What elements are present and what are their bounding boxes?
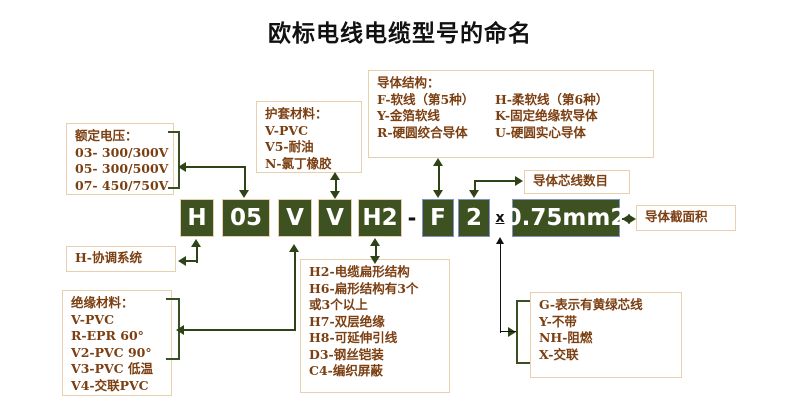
note-cell-right: K-固定绝缘软导体 (495, 108, 598, 125)
arrow-insulation-to-chip (289, 244, 299, 252)
note-line: H-协调系统 (75, 250, 169, 267)
connector-cores-horizontal (474, 180, 516, 182)
note-line: 导体芯线数目 (533, 173, 623, 190)
note-core-marking: G-表示有黄绿芯线 Y-不带 NH-阻燃 X-交联 (530, 292, 682, 378)
note-line: 03- 300/300V (75, 145, 167, 162)
connector-voltage-horizontal (186, 166, 246, 168)
note-row: R-硬圆绞合导体 U-硬圆实心导体 (377, 125, 647, 142)
code-chip-label: V (286, 205, 304, 231)
note-row: Y-金箔软线 K-固定绝缘软导体 (377, 108, 647, 125)
note-row: F-软线（第5种） H-柔软线（第6种） (377, 92, 647, 109)
code-chip-sheath[interactable]: V (318, 199, 352, 237)
note-line: V2-PVC 90° (71, 345, 165, 362)
note-line: G-表示有黄绿芯线 (539, 297, 675, 314)
arrow-core-marking-to-note (508, 327, 516, 337)
note-line: 导体截面积 (645, 209, 729, 226)
note-line: V4-交联PVC (71, 378, 165, 395)
connector-core-marking-vertical (500, 243, 501, 333)
note-line: N-氯丁橡胶 (265, 156, 355, 173)
note-sheath-material: 护套材料： V-PVC V5-耐油 N-氯丁橡胶 (256, 101, 362, 173)
note-line: H8-可延伸引线 (309, 330, 443, 347)
code-chip-cross-section[interactable]: 0.75mm2 (512, 199, 620, 237)
bracket-core-marking (516, 300, 530, 364)
note-structure-codes: H2-电缆扁形结构 H6-扁形结构有3个 或3个以上 H7-双层绝缘 H8-可延… (300, 259, 450, 393)
note-cell-left: R-硬圆绞合导体 (377, 125, 495, 142)
code-chip-label: 2 (466, 205, 482, 231)
code-chip-voltage[interactable]: 05 (222, 199, 270, 237)
code-chip-conductor[interactable]: F (422, 199, 454, 237)
note-rated-voltage: 额定电压： 03- 300/300V 05- 300/500V 07- 450/… (66, 123, 174, 195)
code-chip-label: F (430, 205, 446, 231)
note-line: V-PVC (71, 312, 165, 329)
arrow-cores-to-note (515, 176, 523, 186)
code-chip-cores[interactable]: 2 (458, 199, 490, 237)
note-cell-left: Y-金箔软线 (377, 108, 495, 125)
connector-insulation-horizontal (180, 329, 194, 331)
note-insulation-material: 绝缘材料： V-PVC R-EPR 60° V2-PVC 90° V3-PVC … (62, 290, 172, 396)
code-separator-label: - (408, 206, 417, 230)
arrow-conductor-down (433, 190, 443, 198)
arrow-cross-section-to-chip (622, 214, 630, 224)
arrow-core-marking-to-symbol (496, 237, 504, 244)
code-chip-label: H2 (362, 205, 397, 231)
note-line: V3-PVC 低温 (71, 361, 165, 378)
note-heading: 护套材料： (265, 106, 355, 123)
code-chip-label: H (187, 205, 206, 231)
arrow-cores-to-chip (469, 190, 479, 198)
note-line: V-PVC (265, 123, 355, 140)
code-chip-harmonization[interactable]: H (180, 199, 214, 237)
note-line: NH-阻燃 (539, 330, 675, 347)
code-separator-label: x (495, 210, 504, 226)
connector-insulation-vertical (294, 250, 296, 330)
note-line: V5-耐油 (265, 139, 355, 156)
note-heading: 导体结构： (377, 75, 647, 92)
arrow-voltage-to-note (178, 162, 186, 172)
note-line: D3-钢丝铠装 (309, 347, 443, 364)
note-heading: 额定电压： (75, 128, 167, 145)
note-line: R-EPR 60° (71, 328, 165, 345)
code-chip-label: V (326, 205, 344, 231)
connector-conductor-vertical (438, 164, 440, 192)
arrow-sheath-down (330, 191, 340, 199)
arrow-harmonization-to-chip (191, 239, 201, 247)
note-cell-right: U-硬圆实心导体 (495, 125, 586, 142)
note-line: Y-不带 (539, 314, 675, 331)
connector-core-marking-horizontal (500, 331, 516, 332)
note-line: X-交联 (539, 347, 675, 364)
code-chip-label: 0.75mm2 (506, 205, 627, 231)
note-cell-right: H-柔软线（第6种） (495, 92, 608, 109)
note-line: C4-编织屏蔽 (309, 363, 443, 380)
connector-harmonization-horizontal (186, 260, 198, 262)
arrow-sheath-up (330, 172, 340, 180)
bracket-rated-voltage (168, 131, 180, 189)
page-title: 欧标电线电缆型号的命名 (0, 14, 800, 48)
note-core-count: 导体芯线数目 (524, 170, 630, 194)
note-line: H6-扁形结构有3个 (309, 281, 443, 298)
code-chip-construction[interactable]: H2 (358, 199, 402, 237)
note-line: 或3个以上 (309, 297, 443, 314)
code-separator-dash: - (404, 199, 420, 237)
note-harmonization-system: H-协调系统 (66, 246, 176, 272)
arrow-voltage-to-chip (239, 190, 249, 198)
connector-insulation-horizontal-2 (194, 329, 296, 331)
note-line: 07- 450/750V (75, 178, 167, 195)
arrow-structure-up (370, 238, 380, 246)
diagram-canvas: 欧标电线电缆型号的命名 导体结构： F-软线（第5种） H-柔软线（第6种） Y… (0, 0, 800, 415)
note-line: H2-电缆扁形结构 (309, 264, 443, 281)
note-cross-section-area: 导体截面积 (636, 205, 736, 231)
note-line: 05- 300/500V (75, 161, 167, 178)
code-chip-label: 05 (230, 205, 262, 231)
note-cell-left: F-软线（第5种） (377, 92, 495, 109)
note-heading: 绝缘材料： (71, 295, 165, 312)
code-chip-insulation[interactable]: V (278, 199, 312, 237)
arrow-structure-down (370, 256, 380, 264)
connector-voltage-vertical (244, 166, 246, 192)
arrow-conductor-up (433, 158, 443, 166)
arrow-harmonization-to-note (178, 256, 186, 266)
note-line: H7-双层绝缘 (309, 314, 443, 331)
note-conductor-structure: 导体结构： F-软线（第5种） H-柔软线（第6种） Y-金箔软线 K-固定绝缘… (368, 70, 654, 158)
